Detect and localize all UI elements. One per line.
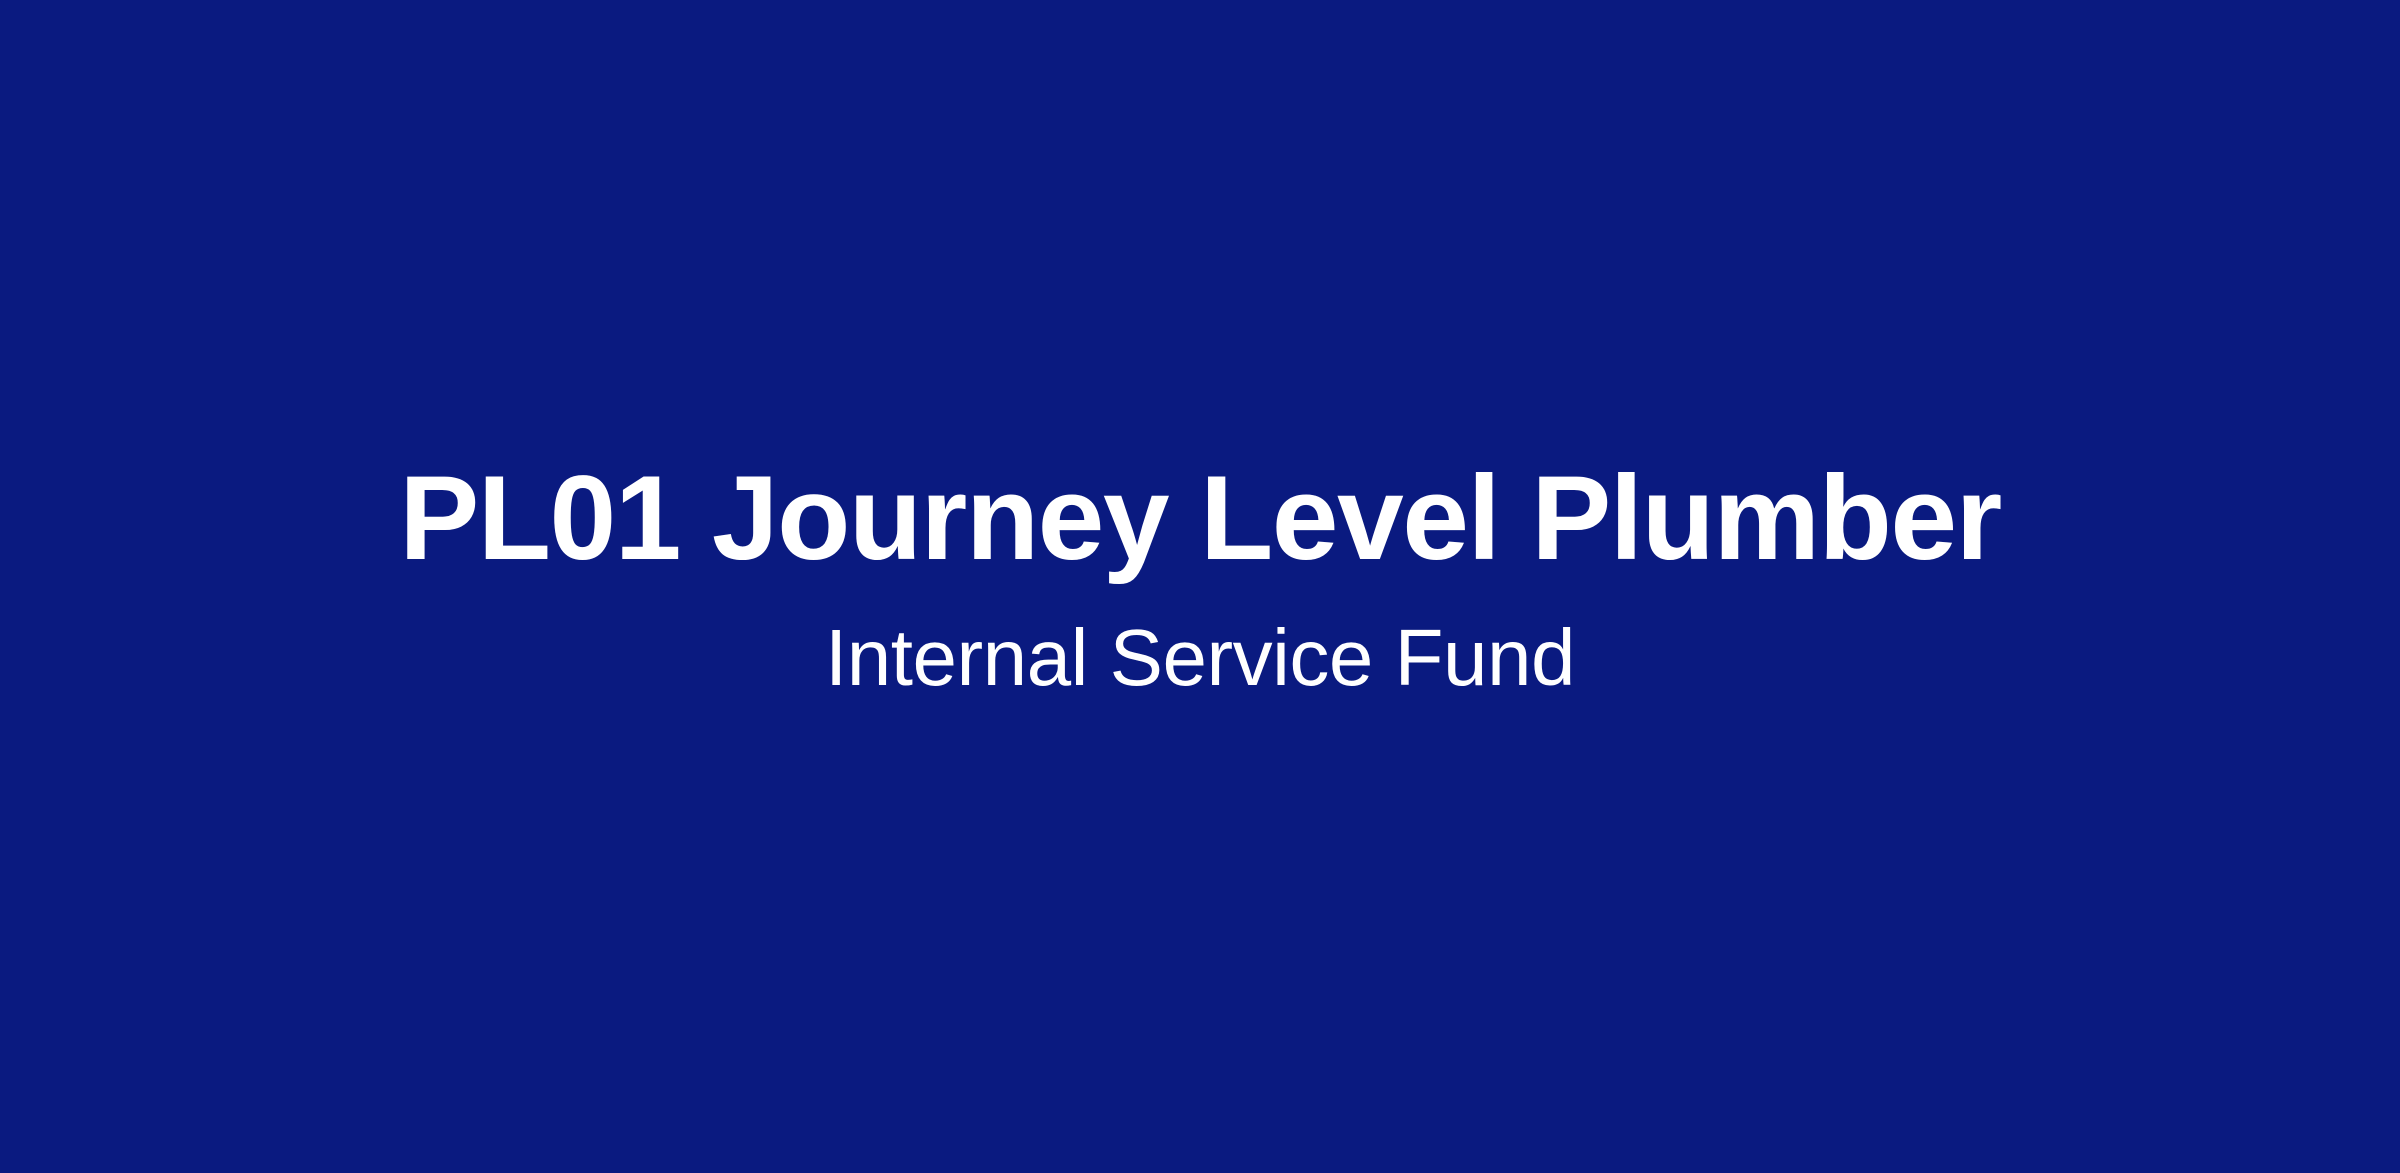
page-subtitle: Internal Service Fund bbox=[825, 618, 1575, 698]
page-title: PL01 Journey Level Plumber bbox=[399, 458, 2001, 578]
title-block: PL01 Journey Level Plumber Internal Serv… bbox=[0, 0, 2400, 1173]
title-slide: PL01 Journey Level Plumber Internal Serv… bbox=[0, 0, 2400, 1173]
